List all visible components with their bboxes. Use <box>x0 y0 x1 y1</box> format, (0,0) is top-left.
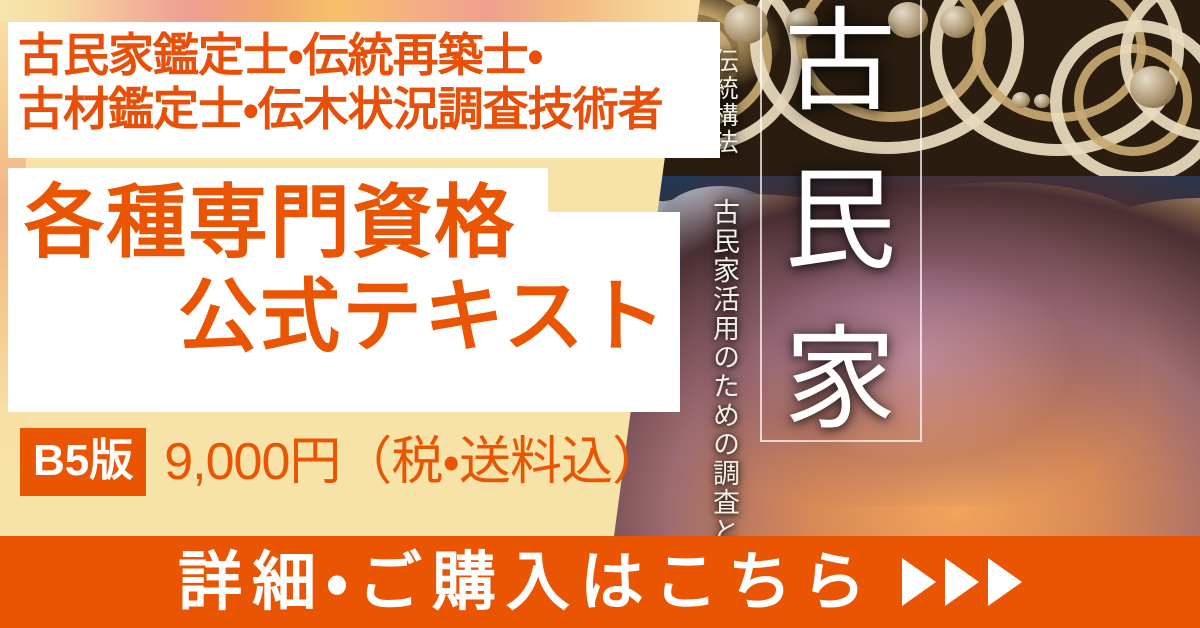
cover-border-frame <box>760 0 922 442</box>
triangle-right-icon <box>988 558 1022 606</box>
qualifications-heading: 古民家鑑定士・伝統再築士・ 古材鑑定士・伝木状況調査技術者 <box>18 28 724 137</box>
format-badge: B5版 <box>20 428 146 496</box>
main-title-line-1: 各種専門資格 <box>18 176 684 270</box>
triangle-right-icon <box>902 558 936 606</box>
top-gradient-strip <box>0 0 760 22</box>
triangle-right-icon <box>945 558 979 606</box>
cta-arrows <box>902 558 1022 606</box>
cta-bar[interactable]: 詳細・ご購入はこちら <box>0 536 1200 628</box>
cta-label: 詳細・ご購入はこちら <box>178 550 876 614</box>
price-amount: 9,000円（税・送料込） <box>164 436 663 488</box>
main-title: 各種専門資格 公式テキスト <box>18 176 684 365</box>
promo-banner: 古 民 家 伝統構法 古民家活用のための調査と再生の 古民家鑑定士・伝統再築士・… <box>0 0 1200 628</box>
qualifications-heading-line-1: 古民家鑑定士・伝統再築士・ <box>18 28 724 82</box>
qualifications-heading-line-2: 古材鑑定士・伝木状況調査技術者 <box>18 82 724 136</box>
price-row: B5版 9,000円（税・送料込） <box>20 428 663 496</box>
main-title-line-2: 公式テキスト <box>18 270 684 364</box>
